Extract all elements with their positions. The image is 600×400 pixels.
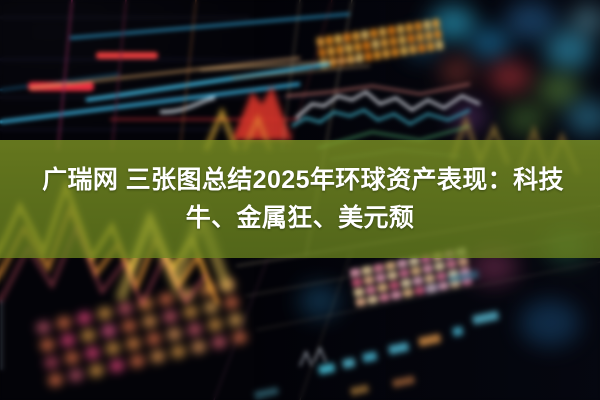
- image-canvas: 广瑞网 三张图总结2025年环球资产表现：科技 牛、金属狂、美元颓: [0, 0, 600, 400]
- headline-band: 广瑞网 三张图总结2025年环球资产表现：科技 牛、金属狂、美元颓: [0, 140, 600, 258]
- headline-line-2: 牛、金属狂、美元颓: [186, 199, 415, 237]
- headline-line-1: 广瑞网 三张图总结2025年环球资产表现：科技: [36, 161, 564, 199]
